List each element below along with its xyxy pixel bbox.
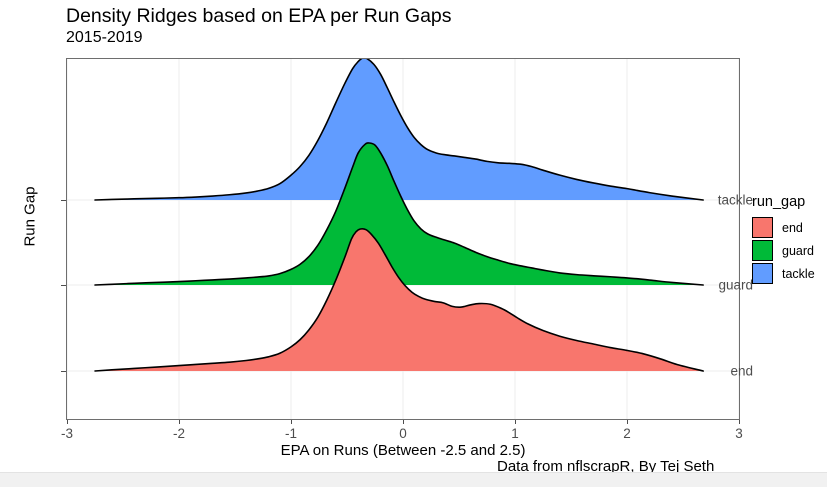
x-tick-mark [739,420,740,424]
plot-panel [66,58,740,420]
x-tick-label: -2 [173,426,185,441]
legend-items: endguardtackle [752,217,827,284]
window-bottom-bar [0,472,827,487]
ridge-fill-tackle [95,59,703,200]
legend-label-tackle: tackle [782,267,815,281]
x-tick-label: 0 [399,426,407,441]
y-tick-mark [61,285,66,286]
x-tick-mark [627,420,628,424]
ridge-tackle [95,59,703,200]
chart-title: Density Ridges based on EPA per Run Gaps [66,5,452,28]
y-tick-mark [61,371,66,372]
legend: run_gap endguardtackle [752,194,827,286]
x-tick-label: 3 [735,426,743,441]
y-tick-mark [61,200,66,201]
legend-item-guard[interactable]: guard [752,240,827,261]
chart-root: Density Ridges based on EPA per Run Gaps… [0,0,827,486]
x-tick-mark [179,420,180,424]
x-tick-mark [403,420,404,424]
x-tick-mark [291,420,292,424]
x-tick-label: -3 [61,426,73,441]
legend-item-tackle[interactable]: tackle [752,263,827,284]
y-tick-label: guard [718,278,753,293]
legend-swatch-end [752,217,773,238]
legend-swatch-tackle [752,263,773,284]
density-ridges-svg [67,59,739,419]
x-tick-label: 2 [623,426,631,441]
legend-label-end: end [782,221,803,235]
x-tick-label: -1 [285,426,297,441]
y-tick-label: tackle [718,193,753,208]
legend-title: run_gap [752,194,827,210]
x-tick-label: 1 [511,426,519,441]
chart-subtitle: 2015-2019 [66,29,143,47]
x-tick-mark [515,420,516,424]
x-axis-title: EPA on Runs (Between -2.5 and 2.5) [0,442,806,459]
y-axis-title: Run Gap [22,157,39,277]
y-tick-label: end [730,364,753,379]
legend-item-end[interactable]: end [752,217,827,238]
legend-swatch-guard [752,240,773,261]
x-tick-mark [67,420,68,424]
legend-label-guard: guard [782,244,814,258]
